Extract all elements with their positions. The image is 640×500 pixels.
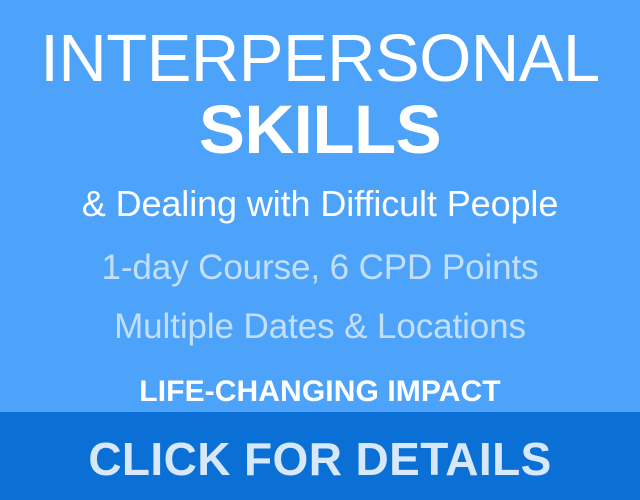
subheadline: & Dealing with Difficult People — [0, 182, 640, 225]
headline-line-primary: INTERPERSONAL — [0, 24, 640, 93]
headline: INTERPERSONAL SKILLS — [0, 24, 640, 168]
cta-button-label: CLICK FOR DETAILS — [88, 436, 551, 482]
tagline: LIFE-CHANGING IMPACT — [0, 374, 640, 410]
detail-dates-locations: Multiple Dates & Locations — [0, 306, 640, 348]
banner-message-panel: INTERPERSONAL SKILLS & Dealing with Diff… — [0, 0, 640, 412]
headline-line-secondary: SKILLS — [0, 91, 640, 168]
cta-button[interactable]: CLICK FOR DETAILS — [0, 412, 640, 500]
advertisement-banner[interactable]: INTERPERSONAL SKILLS & Dealing with Diff… — [0, 0, 640, 500]
detail-course-duration-cpd: 1-day Course, 6 CPD Points — [0, 247, 640, 289]
